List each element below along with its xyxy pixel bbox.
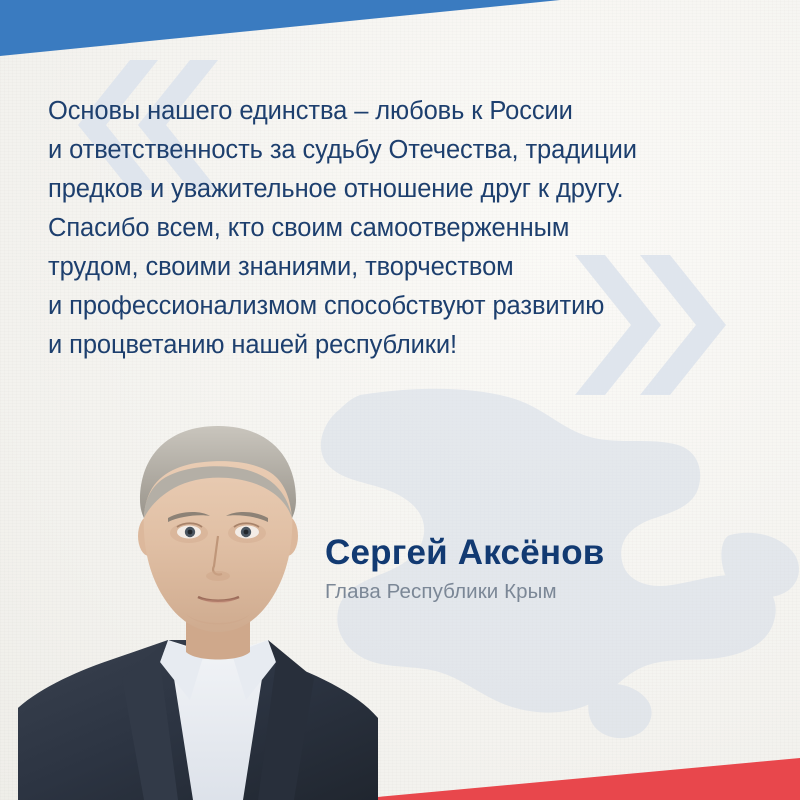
person-title: Глава Республики Крым	[325, 577, 755, 607]
bottom-red-diagonal-band	[330, 730, 800, 800]
quote-line: и профессионализмом способствуют развити…	[48, 287, 768, 326]
quote-line: Основы нашего единства – любовь к России	[48, 92, 768, 131]
person-name: Сергей Аксёнов	[325, 532, 755, 574]
quote-line: и процветанию нашей республики!	[48, 326, 768, 365]
quote-line: и ответственность за судьбу Отечества, т…	[48, 131, 768, 170]
quote-line: Спасибо всем, кто своим самоотверженным	[48, 209, 768, 248]
top-blue-diagonal-band	[0, 0, 620, 60]
quote-line: трудом, своими знаниями, творчеством	[48, 248, 768, 287]
attribution-block: Сергей Аксёнов Глава Республики Крым	[325, 532, 755, 607]
quote-card: Основы нашего единства – любовь к России…	[0, 0, 800, 800]
quote-line: предков и уважительное отношение друг к …	[48, 170, 768, 209]
quote-text-block: Основы нашего единства – любовь к России…	[48, 92, 768, 365]
